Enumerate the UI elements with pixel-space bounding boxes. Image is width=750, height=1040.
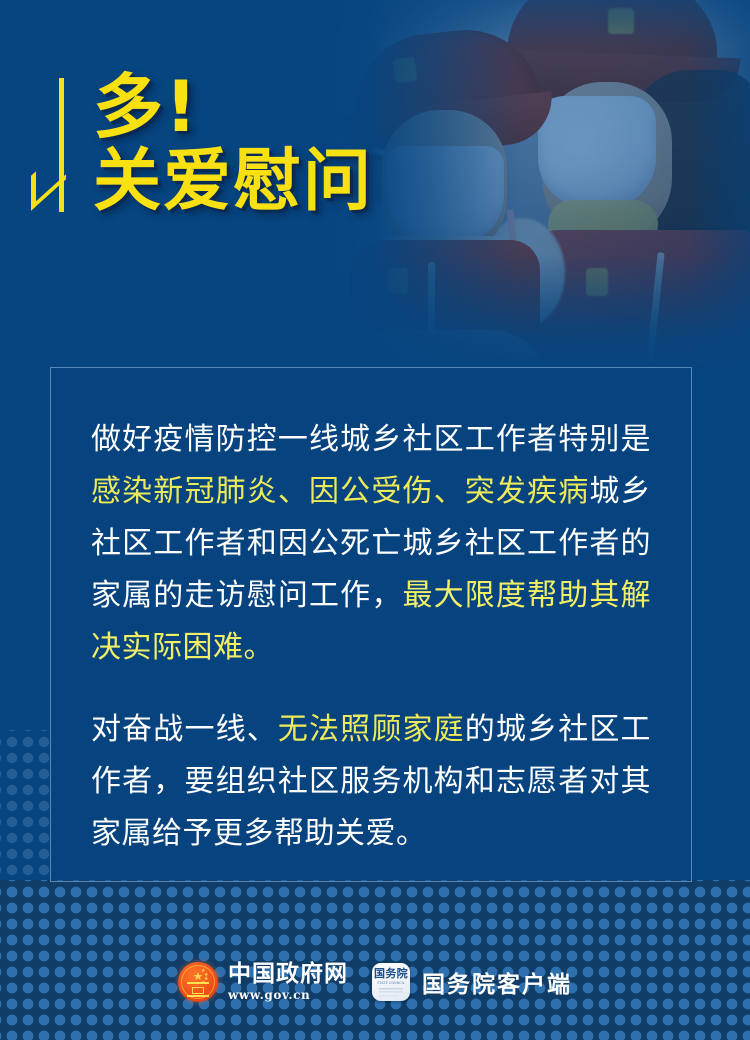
dot-pattern-band-bottom [0,880,750,1040]
gov-site-brand[interactable]: ★ ★ ★ ★ ★ 中国政府网 www.gov.cn [178,962,348,1002]
app-icon-sublabel: STATE COUNCIL [377,981,405,986]
volunteers-photo [330,0,750,375]
paragraph-1-segment-1: 做好疫情防控一线城乡社区工作者特别是 [91,422,651,457]
headline-line-1: 多! [93,72,373,142]
paragraph-1: 做好疫情防控一线城乡社区工作者特别是感染新冠肺炎、因公受伤、突发疾病城乡社区工作… [91,414,651,674]
state-council-app-brand[interactable]: 国务院 STATE COUNCIL 国务院客户端 [372,963,572,1001]
gov-site-name: 中国政府网 [228,962,348,987]
dot-pattern-band-left [0,730,52,880]
gov-site-text: 中国政府网 www.gov.cn [228,962,348,1002]
headline-block: 多! 关爱慰问 [47,72,373,216]
footer-branding: ★ ★ ★ ★ ★ 中国政府网 www.gov.cn 国务院 STATE COU… [0,962,750,1002]
national-emblem-icon: ★ ★ ★ ★ ★ [178,962,218,1002]
content-card-inner: 做好疫情防控一线城乡社区工作者特别是感染新冠肺炎、因公受伤、突发疾病城乡社区工作… [51,368,691,860]
paragraph-2: 对奋战一线、无法照顾家庭的城乡社区工作者，要组织社区服务机构和志愿者对其家属给予… [91,704,651,860]
state-council-app-name: 国务院客户端 [422,965,572,999]
paragraph-1-segment-2-highlight: 感染新冠肺炎、因公受伤、突发疾病 [91,474,589,509]
poster-canvas: 多! 关爱慰问 做好疫情防控一线城乡社区工作者特别是感染新冠肺炎、因公受伤、突发… [0,0,750,1040]
bracket-decoration-icon [47,72,81,216]
headline-titles: 多! 关爱慰问 [81,72,373,216]
content-card: 做好疫情防控一线城乡社区工作者特别是感染新冠肺炎、因公受伤、突发疾病城乡社区工作… [50,367,692,882]
emblem-gate-icon [187,982,209,997]
gov-site-url: www.gov.cn [228,988,348,1002]
photo-content [330,0,750,375]
paragraph-2-segment-1: 对奋战一线、 [91,712,278,747]
headline-line-2: 关爱慰问 [93,148,373,216]
app-icon-label: 国务院 [374,968,408,980]
app-icon-lines [379,988,403,997]
photo-fade-bottom [330,255,750,375]
paragraph-2-segment-2-highlight: 无法照顾家庭 [278,712,465,747]
state-council-app-icon: 国务院 STATE COUNCIL [372,963,410,1001]
